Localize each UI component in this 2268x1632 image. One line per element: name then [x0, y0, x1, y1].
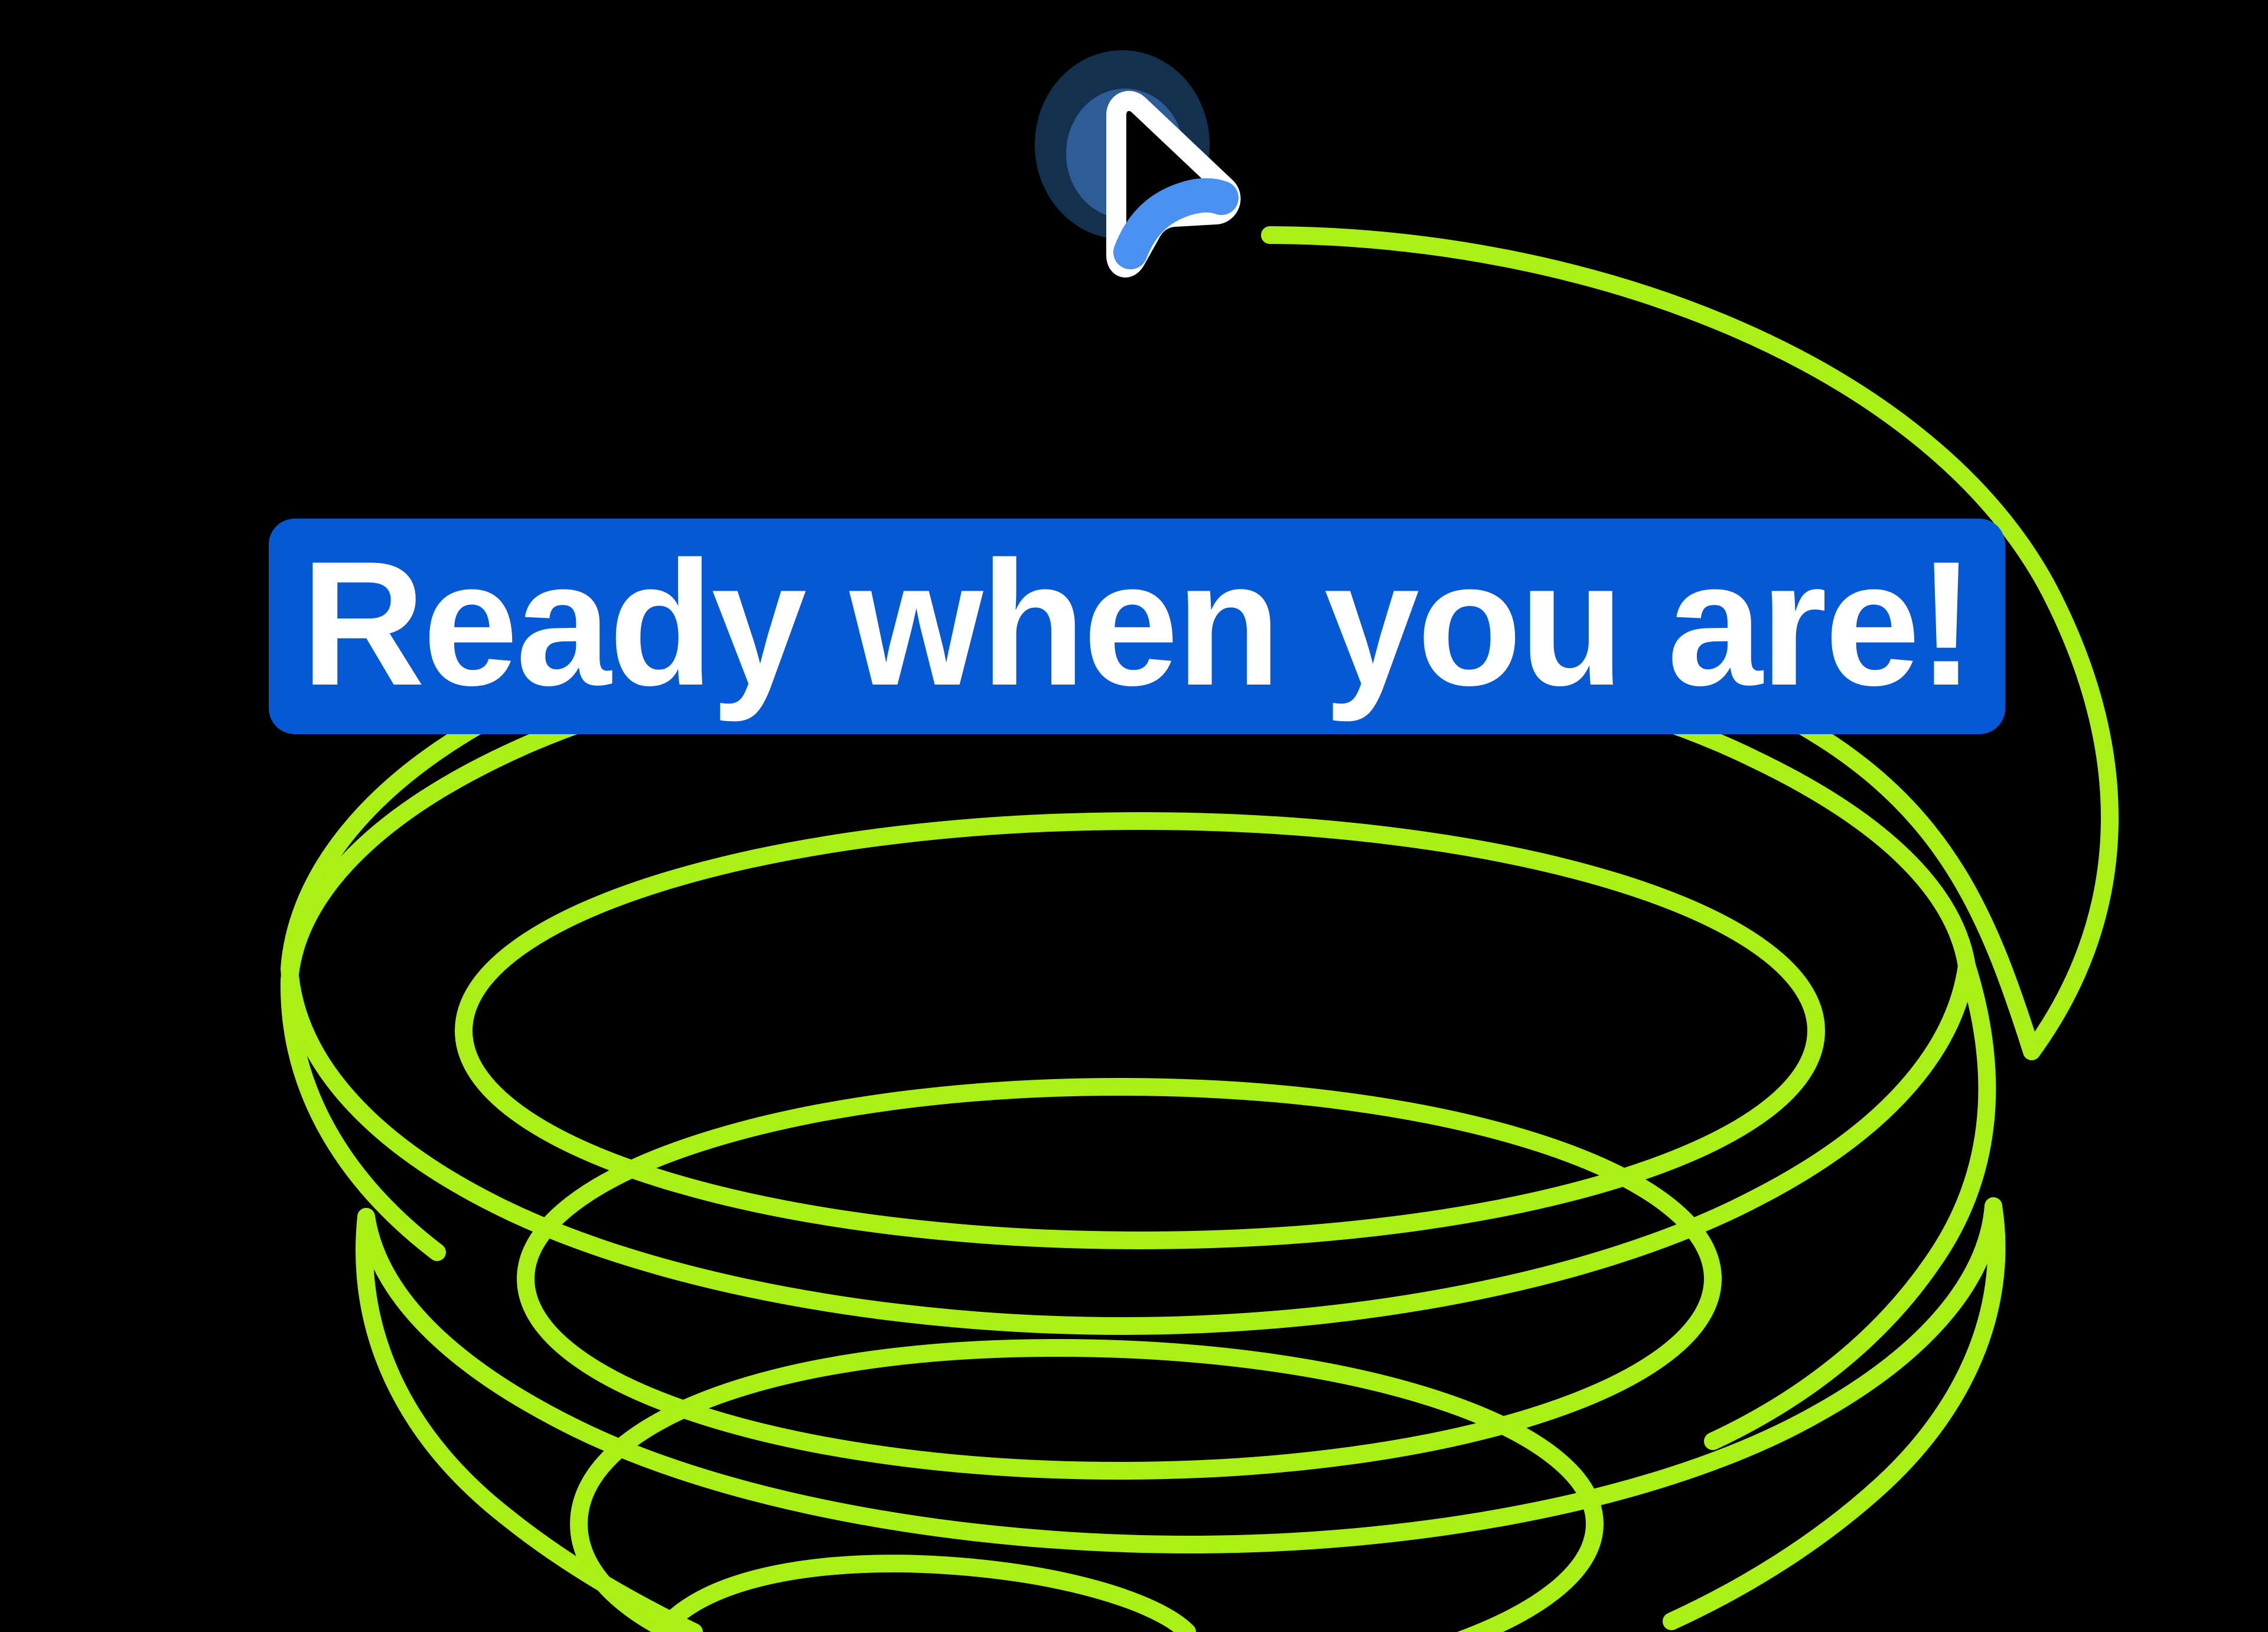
cursor-badge[interactable] [1004, 44, 1282, 351]
cursor-layer [0, 0, 2268, 1632]
poster-canvas: Ready when you are! [0, 0, 2268, 1632]
